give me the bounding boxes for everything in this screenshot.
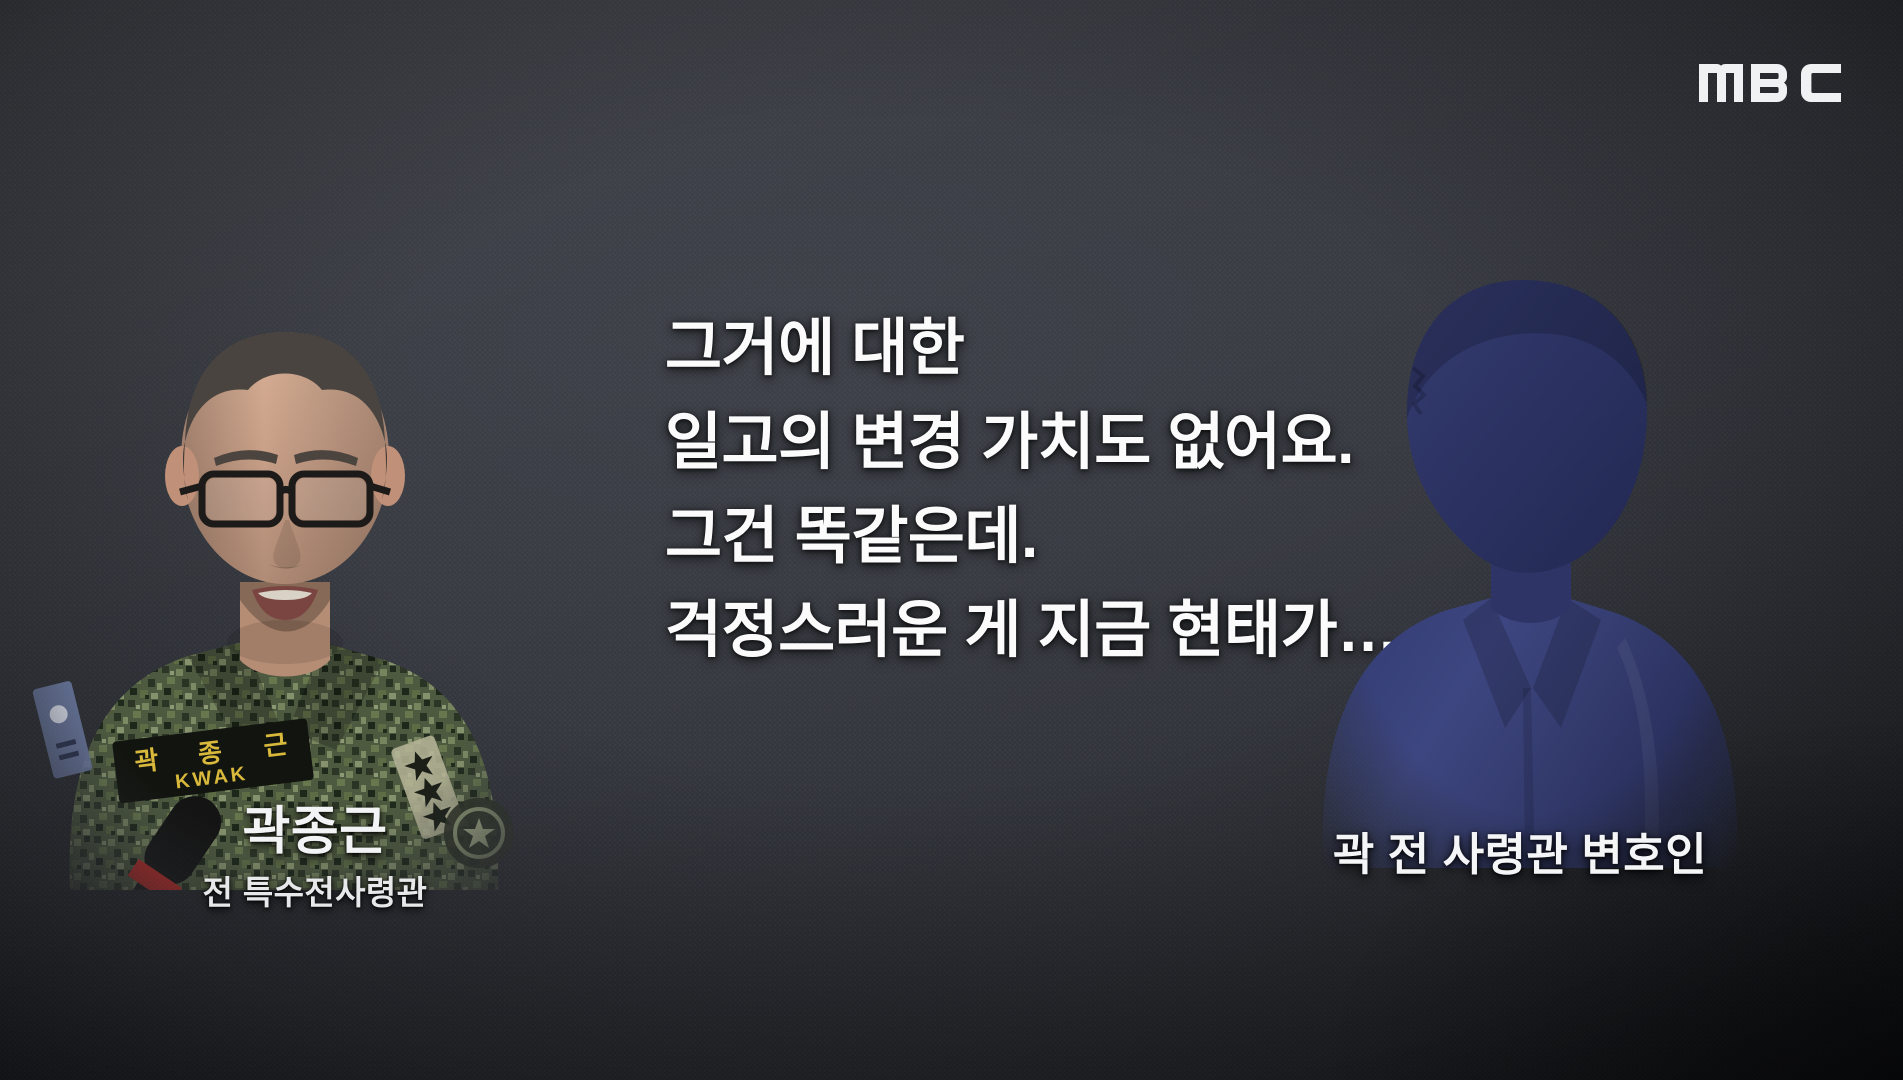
- speaker-name: 곽종근: [0, 806, 630, 859]
- speaker-title: 전 특수전사령관: [0, 866, 630, 914]
- speaker-photo: 곽 종 근 KWAK: [0, 190, 592, 890]
- svg-text:곽: 곽: [133, 745, 160, 778]
- svg-text:종: 종: [196, 737, 223, 770]
- mbc-logo: [1699, 52, 1841, 102]
- broadcast-graphic: 곽 종 근 KWAK: [0, 0, 1903, 1080]
- speaker-name-block: 곽종근 전 특수전사령관: [0, 806, 630, 914]
- second-subject-label: 곽 전 사령관 변호인: [1240, 818, 1800, 883]
- svg-text:근: 근: [262, 729, 289, 762]
- anonymous-silhouette: [1295, 168, 1765, 868]
